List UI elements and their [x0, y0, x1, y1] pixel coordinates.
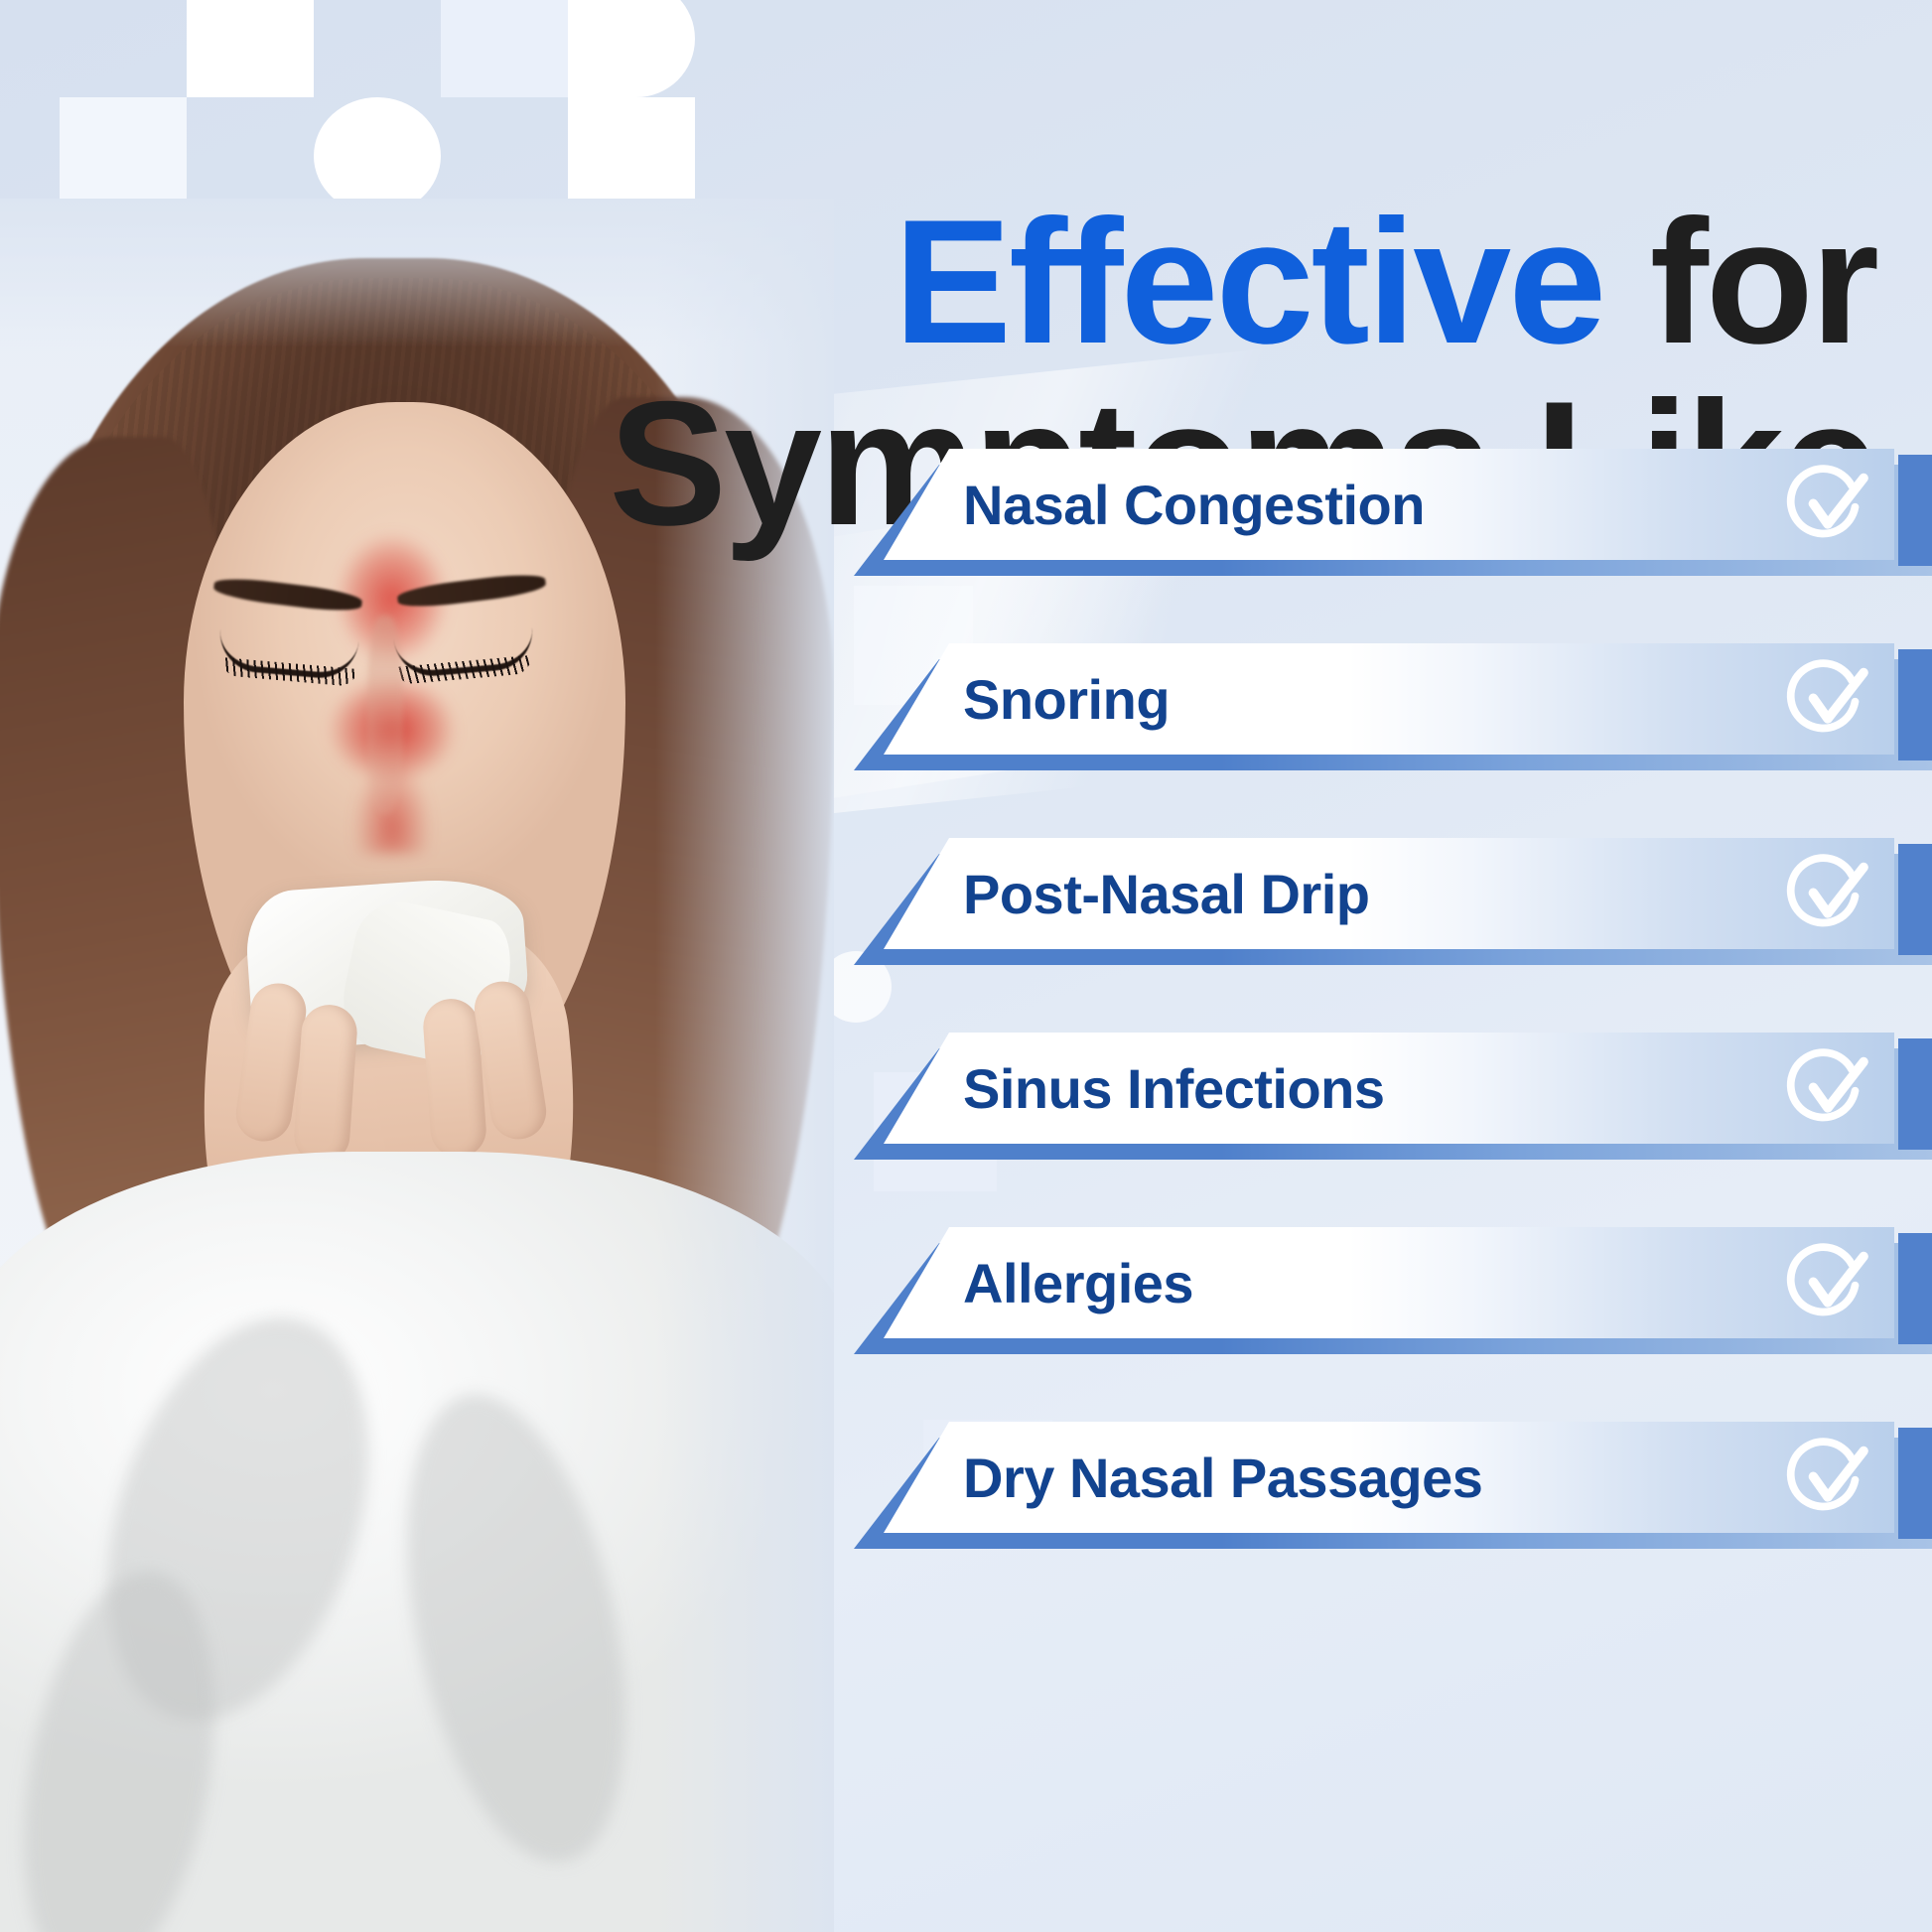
symptom-label: Allergies: [963, 1227, 1193, 1338]
banner-right-cap: [1898, 844, 1932, 955]
symptom-banner-snoring[interactable]: Snoring: [844, 643, 1932, 770]
check-circle-icon: [1785, 1241, 1870, 1326]
headline-line-1-rest: for: [1603, 183, 1876, 380]
symptom-banner-nasal-congestion[interactable]: Nasal Congestion: [844, 449, 1932, 576]
banner-right-cap: [1898, 1038, 1932, 1150]
symptom-label: Nasal Congestion: [963, 449, 1425, 560]
symptom-banner-allergies[interactable]: Allergies: [844, 1227, 1932, 1354]
symptom-label: Post-Nasal Drip: [963, 838, 1370, 949]
symptom-label: Sinus Infections: [963, 1033, 1385, 1144]
promo-poster: Effective for Symptoms Like Nasal Conges…: [0, 0, 1932, 1932]
symptom-label: Snoring: [963, 643, 1170, 755]
nose: [367, 616, 403, 814]
headline-accent-word: Effective: [894, 183, 1603, 380]
finger: [292, 1003, 358, 1166]
banner-right-cap: [1898, 455, 1932, 566]
symptom-banner-dry-nasal-passages[interactable]: Dry Nasal Passages: [844, 1422, 1932, 1549]
symptom-banner-post-nasal-drip[interactable]: Post-Nasal Drip: [844, 838, 1932, 965]
banner-right-cap: [1898, 649, 1932, 760]
banner-right-cap: [1898, 1233, 1932, 1344]
banner-right-cap: [1898, 1428, 1932, 1539]
check-circle-icon: [1785, 463, 1870, 548]
headline-line-1: Effective for: [467, 196, 1876, 368]
check-circle-icon: [1785, 1046, 1870, 1132]
symptom-list: Nasal Congestion Snoring Post-Nasal Drip: [844, 449, 1932, 1932]
symptom-label: Dry Nasal Passages: [963, 1422, 1482, 1533]
symptom-banner-sinus-infections[interactable]: Sinus Infections: [844, 1033, 1932, 1160]
check-circle-icon: [1785, 852, 1870, 937]
check-circle-icon: [1785, 1436, 1870, 1521]
check-circle-icon: [1785, 657, 1870, 743]
